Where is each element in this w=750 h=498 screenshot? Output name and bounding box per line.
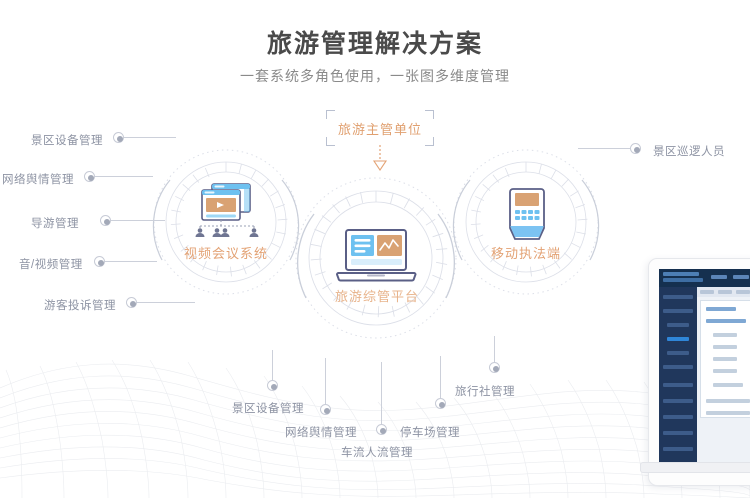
dashboard-filter-chip-1[interactable] — [700, 290, 714, 294]
dashboard-screen — [659, 269, 750, 465]
corner-bracket-tr — [425, 110, 434, 119]
dashboard-filter-chip-2[interactable] — [718, 290, 732, 294]
connector-dot-bottom-0 — [267, 380, 278, 391]
connector-label-left-1: 网络舆情管理 — [2, 171, 74, 187]
dashboard-tree-row-5[interactable] — [713, 357, 737, 361]
dashboard-filter-chip-3[interactable] — [736, 290, 750, 294]
video-conference-icon — [186, 180, 266, 238]
dashboard-brand-line-1 — [663, 272, 699, 276]
connector-dot-left-1 — [84, 171, 95, 182]
page-title: 旅游管理解决方案 — [0, 24, 750, 60]
dashboard-preview-device — [648, 258, 750, 486]
connector-label-left-0: 景区设备管理 — [31, 132, 103, 148]
connector-dot-left-4 — [126, 297, 137, 308]
connector-label-bottom-3: 停车场管理 — [400, 424, 460, 440]
connector-label-bottom-0: 景区设备管理 — [232, 400, 304, 416]
connector-label-right-0: 景区巡逻人员 — [653, 143, 725, 159]
connector-line-bottom-1 — [325, 358, 326, 404]
node-label-platform: 旅游综管平台 — [322, 286, 432, 305]
dashboard-sidebar-item-4-active[interactable] — [667, 337, 689, 341]
connector-label-left-3: 音/视频管理 — [19, 256, 83, 272]
dashboard-sidebar-item-3[interactable] — [667, 323, 689, 327]
dashboard-tree-row-3[interactable] — [713, 333, 737, 337]
dashboard-tree-card — [700, 300, 750, 418]
connector-line-left-0 — [124, 137, 176, 138]
dashboard-tree-row-9[interactable] — [706, 411, 750, 415]
dashboard-sidebar-item-6[interactable] — [663, 365, 693, 369]
dashboard-sidebar-item-7[interactable] — [663, 383, 693, 387]
dashboard-content — [697, 287, 750, 465]
connector-line-bottom-3 — [440, 356, 441, 398]
authority-arrow-icon — [368, 145, 392, 173]
mobile-device-icon — [505, 186, 549, 242]
corner-bracket-bl — [326, 137, 335, 146]
connector-line-bottom-4 — [494, 336, 495, 362]
corner-bracket-br — [425, 137, 434, 146]
dashboard-tab-2[interactable] — [733, 275, 749, 279]
dashboard-sidebar-item-9[interactable] — [663, 415, 693, 419]
node-label-mobile-enforce: 移动执法端 — [451, 243, 601, 262]
connector-label-bottom-2: 车流人流管理 — [341, 444, 413, 460]
dashboard-tree-row-6[interactable] — [713, 369, 737, 373]
dashboard-tree-row-4[interactable] — [713, 345, 737, 349]
authority-label: 旅游主管单位 — [338, 119, 422, 138]
connector-line-left-1 — [95, 176, 153, 177]
dashboard-brand-line-2 — [663, 278, 703, 282]
laptop-dashboard-icon — [334, 228, 418, 284]
connector-dot-left-0 — [113, 132, 124, 143]
connector-dot-bottom-2 — [376, 424, 387, 435]
dashboard-tree-row-2[interactable] — [706, 319, 746, 323]
connector-dot-bottom-1 — [320, 404, 331, 415]
connector-dot-left-3 — [94, 256, 105, 267]
page-subtitle: 一套系统多角色使用，一张图多维度管理 — [0, 66, 750, 86]
dashboard-sidebar-item-8[interactable] — [663, 399, 693, 403]
connector-line-left-3 — [105, 261, 157, 262]
dashboard-sidebar-item-10[interactable] — [663, 431, 693, 435]
dashboard-filter-bar — [697, 287, 750, 297]
dashboard-sidebar-item-5[interactable] — [667, 351, 689, 355]
connector-dot-bottom-3 — [435, 398, 446, 409]
dashboard-sidebar-item-1[interactable] — [663, 295, 693, 299]
dashboard-sidebar-item-11[interactable] — [663, 447, 693, 451]
connector-line-left-4 — [137, 302, 195, 303]
corner-bracket-tl — [326, 110, 335, 119]
connector-label-left-4: 游客投诉管理 — [44, 297, 116, 313]
poster-canvas: 旅游管理解决方案 一套系统多角色使用，一张图多维度管理 旅游主管单位 — [0, 0, 750, 498]
dashboard-sidebar — [659, 287, 697, 465]
connector-dot-bottom-4 — [489, 362, 500, 373]
connector-label-bottom-4: 旅行社管理 — [455, 383, 515, 399]
connector-line-right-0 — [578, 148, 630, 149]
connector-line-bottom-0 — [272, 350, 273, 380]
dashboard-tree-row-7[interactable] — [713, 383, 743, 387]
connector-line-bottom-2 — [381, 362, 382, 424]
node-label-video-conference: 视频会议系统 — [146, 243, 306, 262]
connector-line-left-2 — [111, 220, 165, 221]
authority-box: 旅游主管单位 — [330, 114, 430, 142]
dashboard-tree-row-1[interactable] — [706, 307, 736, 311]
dashboard-sidebar-item-2[interactable] — [663, 309, 693, 313]
connector-label-bottom-1: 网络舆情管理 — [285, 424, 357, 440]
connector-label-left-2: 导游管理 — [31, 215, 79, 231]
connector-dot-left-2 — [100, 215, 111, 226]
connector-dot-right-0 — [630, 143, 641, 154]
background-mesh — [0, 318, 750, 498]
device-base — [640, 462, 750, 473]
dashboard-tree-row-8[interactable] — [706, 399, 750, 403]
dashboard-tab-1[interactable] — [711, 275, 727, 279]
dashboard-topbar — [659, 269, 750, 287]
